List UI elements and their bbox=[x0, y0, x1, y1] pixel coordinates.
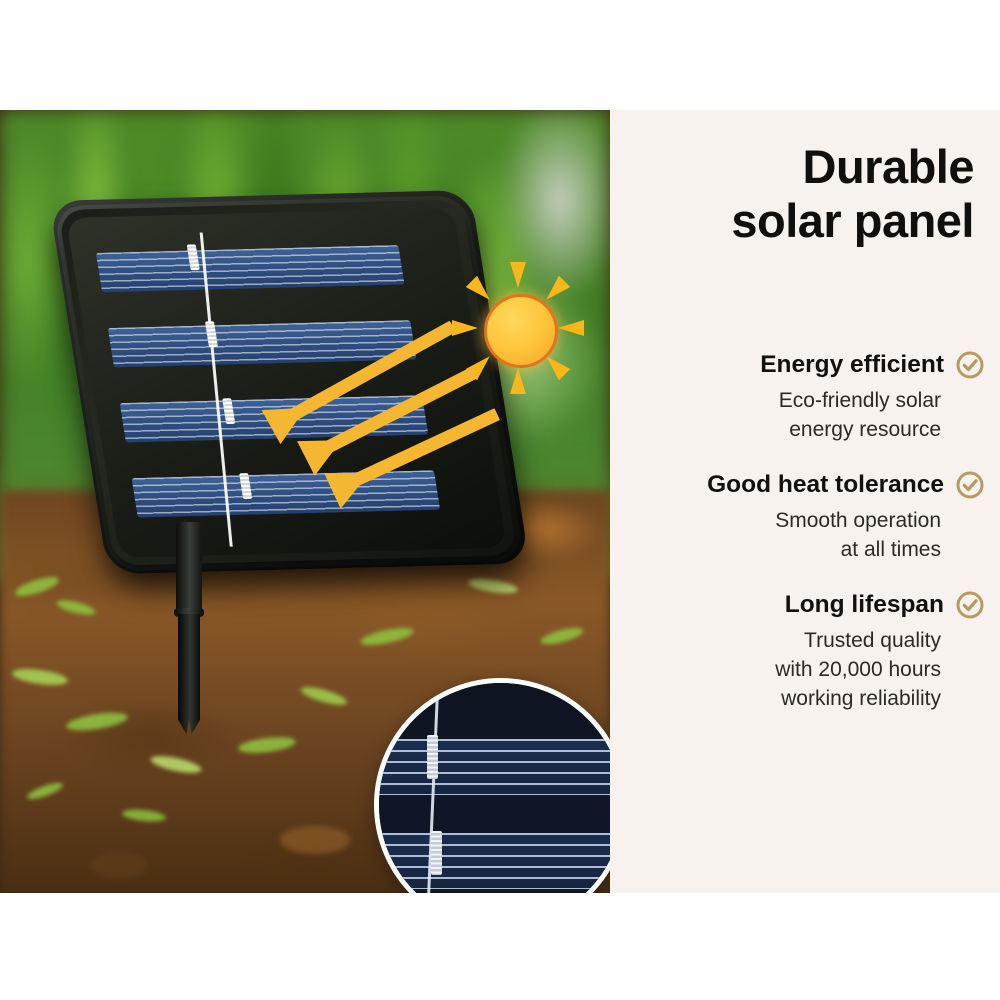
feature-heading-row: Long lifespan bbox=[610, 590, 1000, 620]
sun-disc bbox=[484, 294, 558, 368]
soil-clod bbox=[90, 852, 148, 878]
product-marketing-image: Durable solar panel Energy efficient Eco… bbox=[0, 0, 1000, 1000]
panel-stake-upper bbox=[176, 522, 202, 614]
soil-clod bbox=[280, 826, 350, 854]
feature-item-good-heat-tolerance: Good heat tolerance Smooth operationat a… bbox=[610, 470, 1000, 564]
solar-cell-closeup-magnifier bbox=[374, 678, 610, 893]
feature-heading-row: Energy efficient bbox=[610, 350, 1000, 380]
feature-description: Eco-friendly solarenergy resource bbox=[610, 386, 1000, 444]
feature-description: Smooth operationat all times bbox=[610, 506, 1000, 564]
feature-heading-row: Good heat tolerance bbox=[610, 470, 1000, 500]
closeup-cell-strip bbox=[374, 739, 610, 795]
solar-cell-strip bbox=[96, 245, 405, 292]
check-circle-icon bbox=[955, 470, 985, 500]
solar-cell-strip bbox=[108, 320, 417, 367]
closeup-busbar-contact bbox=[431, 831, 442, 875]
title-line-1: Durable bbox=[634, 140, 974, 194]
title-line-2: solar panel bbox=[634, 194, 974, 248]
feature-title: Energy efficient bbox=[760, 351, 944, 379]
closeup-cell-strip bbox=[374, 833, 610, 889]
feature-title: Good heat tolerance bbox=[707, 471, 944, 499]
feature-list: Energy efficient Eco-friendly solarenerg… bbox=[610, 350, 1000, 739]
feature-title: Long lifespan bbox=[785, 591, 944, 619]
check-circle-icon bbox=[955, 350, 985, 380]
solar-cell-strip bbox=[131, 470, 440, 517]
check-circle-icon bbox=[955, 590, 985, 620]
feature-item-long-lifespan: Long lifespan Trusted qualitywith 20,000… bbox=[610, 590, 1000, 713]
closeup-busbar-contact bbox=[427, 735, 438, 779]
feature-panel: Durable solar panel Energy efficient Eco… bbox=[610, 110, 1000, 893]
product-photo bbox=[0, 110, 610, 893]
page-title: Durable solar panel bbox=[634, 140, 974, 248]
panel-stake-spike bbox=[178, 614, 200, 734]
feature-item-energy-efficient: Energy efficient Eco-friendly solarenerg… bbox=[610, 350, 1000, 444]
feature-description: Trusted qualitywith 20,000 hoursworking … bbox=[610, 626, 1000, 713]
